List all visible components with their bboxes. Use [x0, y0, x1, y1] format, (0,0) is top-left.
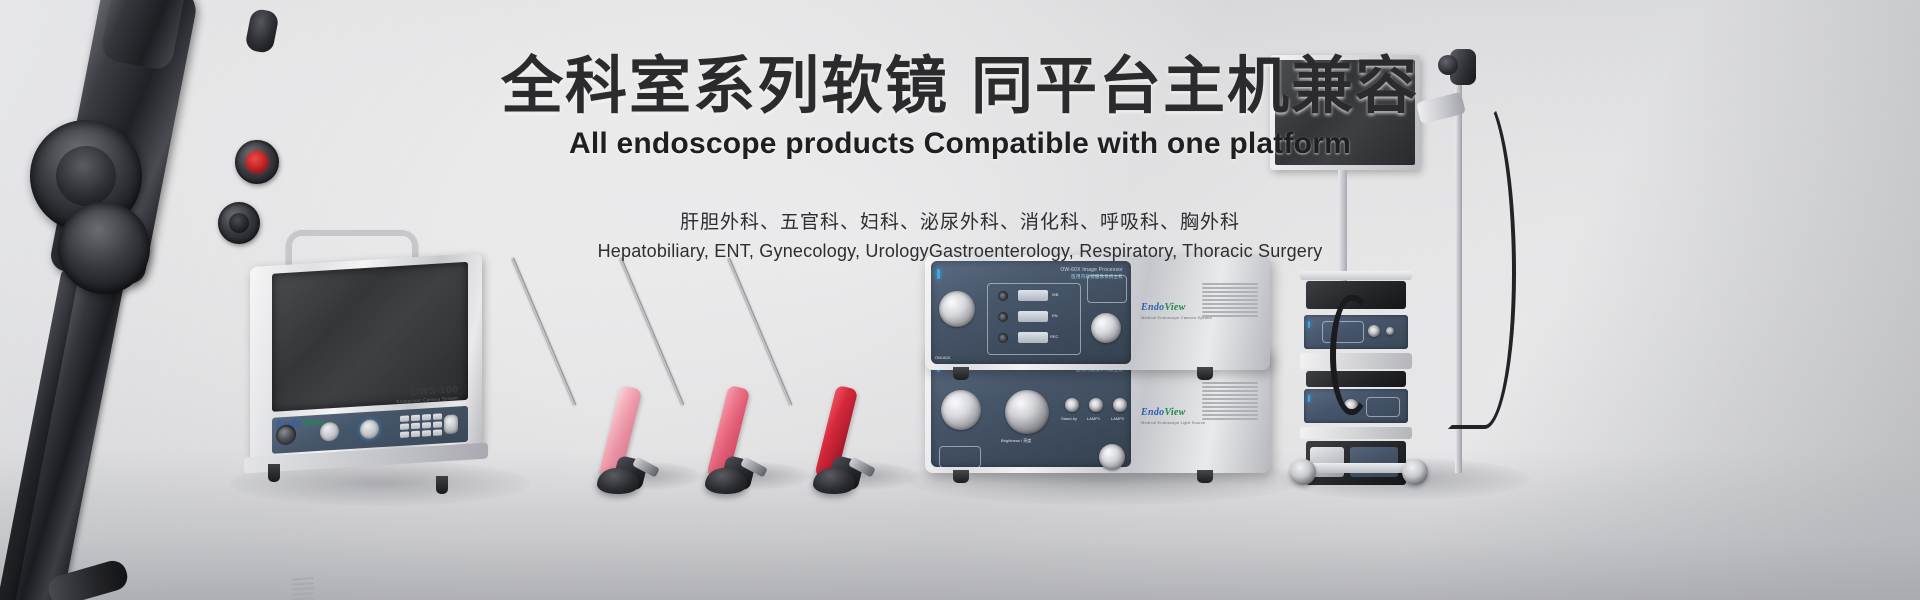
scope1-rod — [511, 257, 576, 405]
brand-endo: Endo — [1141, 302, 1164, 313]
monitor-key[interactable] — [411, 423, 420, 430]
light-source-foot — [953, 470, 969, 483]
processor-top-port-1[interactable] — [998, 291, 1008, 301]
processor-top-title-en: OW-60X Image Processor — [1060, 267, 1123, 273]
processor-top-foot — [953, 367, 969, 380]
trolley-shelf-2 — [1300, 427, 1412, 439]
light-source-sublabel: Medical Endoscope Light Source — [1141, 420, 1205, 425]
trolley-device-1-button[interactable] — [1386, 327, 1394, 335]
monitor-key[interactable] — [400, 415, 409, 422]
processor-top-port-2[interactable] — [998, 312, 1008, 322]
departments-chinese: 肝胆外科、五官科、妇科、泌尿外科、消化科、呼吸科、胸外科 — [0, 207, 1920, 234]
monitor-key[interactable] — [400, 423, 409, 430]
monitor-keypad[interactable] — [400, 413, 442, 438]
processor-top-front-panel: OW-60X Image Processor 医用内窥镜摄像系统主机 WB EN… — [931, 261, 1131, 364]
light-source-brand-logo: EndoView — [1141, 408, 1186, 418]
processor-top-control-group: WB EN REC — [987, 283, 1081, 355]
rigid-laparoscope-icon — [721, 250, 881, 485]
processor-top-brand-logo: EndoView — [1141, 303, 1186, 313]
light-source-label-standby: Stand-by — [1061, 416, 1077, 421]
processor-top-key-2[interactable] — [1018, 311, 1048, 322]
light-source-fiber-port[interactable] — [941, 390, 981, 430]
scope3-rod — [727, 257, 792, 405]
processor-top-label-1: WB — [1052, 292, 1058, 297]
banner-text-block: 全科室系列软镜同平台主机兼容 All endoscope products Co… — [0, 52, 1920, 262]
endoscope-eyepiece — [244, 8, 279, 55]
trolley-cable — [1330, 295, 1372, 415]
light-source-foot — [1197, 470, 1213, 483]
monitor-key[interactable] — [422, 430, 431, 437]
light-source-button-lamp1[interactable] — [1089, 398, 1103, 412]
processor-top-key-1[interactable] — [1018, 290, 1048, 301]
headline-english: All endoscope products Compatible with o… — [0, 127, 1920, 161]
light-source-brightness-knob[interactable] — [1005, 390, 1049, 434]
light-source-button-lamp2[interactable] — [1113, 398, 1127, 412]
processor-top-label-2: EN — [1052, 313, 1058, 318]
processor-top-secondary-connector[interactable] — [1091, 313, 1121, 343]
monitor-key[interactable] — [422, 422, 431, 429]
processor-top-model-code: OW-60X — [935, 355, 950, 360]
light-source-knob-label: Brightness / 亮度 — [1001, 438, 1031, 444]
processor-top-power-indicator — [937, 269, 940, 279]
monitor-key[interactable] — [422, 414, 431, 421]
monitor-leg — [436, 476, 448, 494]
monitor-key[interactable] — [433, 413, 442, 420]
monitor-round-button-1[interactable] — [320, 422, 339, 442]
scope3-base — [813, 468, 855, 494]
scope2-rod — [619, 257, 684, 405]
brand-view: View — [1164, 302, 1185, 313]
light-source-vent — [1202, 382, 1258, 420]
trolley-wheel-left — [1290, 459, 1316, 485]
departments-english: Hepatobiliary, ENT, Gynecology, UrologyG… — [0, 241, 1920, 262]
processor-top-port-3[interactable] — [998, 333, 1008, 343]
light-source-button-standby[interactable] — [1065, 398, 1079, 412]
trolley-device-2-panel — [1366, 397, 1400, 417]
headline-chinese-part2: 同平台主机兼容 — [971, 52, 1419, 121]
light-source-label-lamp2: LAMP2 — [1111, 416, 1124, 421]
monitor-key[interactable] — [433, 421, 442, 428]
processor-top-label-3: REC — [1050, 334, 1058, 339]
brand-endo: Endo — [1141, 407, 1164, 418]
light-source-indicator-box — [939, 446, 981, 468]
light-source-label-lamp1: LAMP1 — [1087, 416, 1100, 421]
monitor-key[interactable] — [411, 415, 420, 422]
processor-top-main-connector[interactable] — [939, 291, 975, 327]
processor-top-vent — [1202, 283, 1258, 317]
monitor-key[interactable] — [433, 429, 442, 436]
headline-chinese-part1: 全科室系列软镜 — [501, 52, 949, 121]
monitor-key[interactable] — [411, 431, 420, 438]
product-banner: 全科室系列软镜同平台主机兼容 All endoscope products Co… — [0, 0, 1920, 600]
trolley-device-1-indicator — [1308, 321, 1310, 328]
light-source-power-button[interactable] — [1099, 444, 1125, 470]
trolley-wheel-right — [1402, 459, 1428, 485]
trolley-device-2-indicator — [1308, 395, 1310, 402]
brand-view: View — [1164, 407, 1185, 418]
processor-top-key-3[interactable] — [1018, 332, 1048, 343]
image-processor-icon: OW-60X Image Processor 医用内窥镜摄像系统主机 WB EN… — [925, 255, 1270, 370]
monitor-round-button-2[interactable] — [360, 419, 379, 439]
processor-top-display-window — [1087, 275, 1127, 303]
processor-top-foot — [1197, 367, 1213, 380]
headline-chinese: 全科室系列软镜同平台主机兼容 — [0, 52, 1920, 121]
monitor-power-button[interactable] — [444, 414, 458, 434]
monitor-key[interactable] — [400, 431, 409, 438]
